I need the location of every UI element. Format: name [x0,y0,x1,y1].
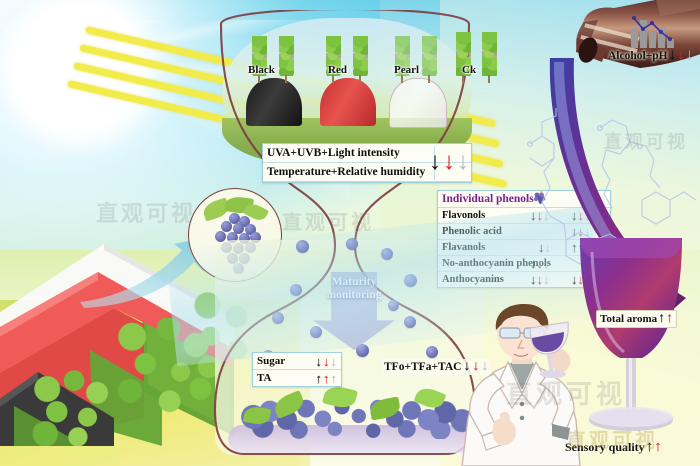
ta-row: TA ↑ ↑ ↑ [253,370,341,386]
floating-berry [426,346,438,358]
down-arrow-grey-icon: ↓ [686,48,694,63]
floating-berry [296,240,309,253]
phenol-name: Flavanols [442,242,485,253]
phenol-name: Flavonols [442,210,485,221]
harvested-grape-pile [228,385,478,455]
ta-label: TA [257,372,271,384]
phenol-name: Anthocyanins [442,274,504,285]
climate-parameters-box: UVA+UVB+Light intensity Temperature+Rela… [262,143,472,183]
wine-quality-mini-chart [629,14,677,48]
floating-berry [356,344,369,357]
floating-berry [404,316,416,328]
maturity-line-2: monitoring [318,289,390,302]
floating-berry [388,300,399,311]
climate-arrow-group: ↓ ↓ ↓ [429,150,469,174]
floating-berry [310,326,322,338]
climate-label-light: UVA+UVB+Light intensity [267,147,400,159]
floating-berry [290,284,302,296]
sensory-quality-box: Sensory quality ↑ ↑ [565,440,662,455]
tunnel-label-black: Black [248,64,275,76]
sensory-quality-label: Sensory quality [565,440,645,455]
down-arrow-red-icon: ↓ [677,48,685,63]
tunnel-cover-red [320,78,376,126]
alcohol-ph-box: Alcohol+pH ↓ ↓ ↓ [608,48,693,63]
down-arrow-grey-icon: ↓ [331,355,338,368]
vine-plant [482,32,497,76]
sugar-row: Sugar ↓ ↓ ↓ [253,353,341,370]
up-arrow-red-icon: ↑ [323,372,330,385]
down-arrow-black-icon: ↓ [429,150,441,174]
sugar-ta-box: Sugar ↓ ↓ ↓ TA ↑ ↑ ↑ [252,352,342,387]
tunnel-cover-pearl [389,78,447,128]
floating-berry [381,248,393,260]
tunnel-label-ck: Ck [462,64,476,76]
vine-plant [353,36,368,76]
phenol-name: Phenolic acid [442,226,502,237]
up-arrow-black-icon: ↑ [316,372,323,385]
floating-berry [346,238,358,250]
up-arrow-red-icon: ↑ [654,440,662,455]
down-arrow-red-icon: ↓ [323,355,330,368]
phenols-title: Individual phenols [442,193,534,205]
down-arrow-black-icon: ↓ [669,48,677,63]
sugar-label: Sugar [257,355,285,367]
maturity-monitoring-label: Maturity monitoring [318,276,390,301]
ta-arrow-group: ↑ ↑ ↑ [310,372,338,385]
floating-berry [404,274,417,287]
up-arrow-black-icon: ↑ [658,312,665,326]
tunnel-cover-black [246,78,302,126]
climate-label-temp: Temperature+Relative humidity [267,166,425,178]
chart-trend-line [629,14,677,48]
graphical-abstract-figure: Black Red Pearl Ck UVA+UVB+Light intensi… [0,0,700,466]
up-arrow-red-icon: ↑ [666,312,673,326]
down-arrow-red-icon: ↓ [443,150,455,174]
floating-berry [272,312,284,324]
tfo-label: TFo+TFa+TAC [384,361,461,373]
sugar-arrow-group: ↓ ↓ ↓ [310,355,338,368]
maturity-line-1: Maturity [318,276,390,289]
vine-plant [279,36,294,76]
up-arrow-black-icon: ↑ [646,440,654,455]
alcohol-ph-label: Alcohol+pH [608,50,668,62]
up-arrow-grey-icon: ↑ [331,372,338,385]
tunnel-label-red: Red [328,64,347,76]
down-arrow-black-icon: ↓ [316,355,323,368]
tunnel-label-pearl: Pearl [394,64,419,76]
vine-plant [422,36,437,76]
down-arrow-grey-icon: ↓ [457,150,469,174]
